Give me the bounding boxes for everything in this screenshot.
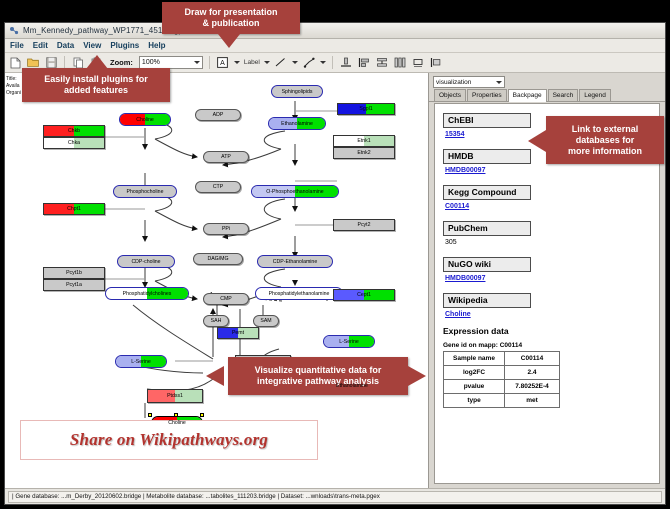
backpage-header-nugo-wiki: NuGO wiki — [443, 257, 531, 272]
node-label: L-Serine — [339, 339, 359, 345]
node-label: L-Serine — [131, 359, 151, 365]
gene-node-sgpl1[interactable]: Sgpl1 — [337, 103, 395, 115]
backpage-header-pubchem: PubChem — [443, 221, 531, 236]
tab-backpage[interactable]: Backpage — [508, 89, 547, 102]
node-label: CTP — [213, 184, 223, 190]
backpage-link-wikipedia[interactable]: Choline — [445, 311, 654, 318]
cell-value: 7.80252E-4 — [505, 380, 560, 394]
gene-node-etnk1[interactable]: Etnk1 — [333, 135, 395, 147]
chevron-down-icon[interactable] — [292, 61, 298, 64]
gene-node-pcyt2[interactable]: Pcyt2 — [333, 219, 395, 231]
node-label: CMP — [220, 296, 232, 302]
cell-key: log2FC — [444, 366, 505, 380]
cofactor-node-atp[interactable]: ATP — [203, 151, 249, 163]
backpage-header-hmdb: HMDB — [443, 149, 531, 164]
node-label: SAM — [260, 318, 271, 324]
metabolite-node-cdp-choline[interactable]: CDP-choline — [117, 255, 175, 268]
callout-plugins: Easily install plugins for added feature… — [22, 68, 170, 102]
gene-node-chkb[interactable]: Chkb — [43, 125, 105, 137]
label-tool-label: Label — [244, 59, 260, 66]
metabolite-node-ethanolamine[interactable]: Ethanolamine — [268, 117, 326, 130]
callout-links-arrow-stem — [544, 135, 550, 146]
align-bottom-icon[interactable] — [339, 56, 353, 70]
node-label: Cept1 — [357, 292, 371, 298]
svg-text:A: A — [221, 60, 226, 67]
node-label: Chka — [68, 140, 80, 146]
new-file-icon[interactable] — [8, 56, 22, 70]
metabolite-node-l-serine-left[interactable]: L-Serine — [115, 355, 167, 368]
node-label: Ptdss1 — [167, 393, 183, 399]
table-row: log2FC 2.4 — [444, 366, 560, 380]
cofactor-node-ctp[interactable]: CTP — [195, 181, 241, 193]
toolbar-separator — [209, 56, 210, 69]
cofactor-node-adp[interactable]: ADP — [195, 109, 241, 121]
toolbar-separator — [332, 56, 333, 69]
tab-objects[interactable]: Objects — [434, 89, 466, 101]
callout-visualize: Visualize quantitative data for integrat… — [228, 357, 408, 395]
backpage-link-hmdb[interactable]: HMDB00097 — [445, 167, 654, 174]
title-bar: Mm_Kennedy_pathway_WP1771_45176.gpml — [5, 23, 665, 39]
chevron-down-icon[interactable] — [234, 61, 240, 64]
cell-key: Sample name — [444, 352, 505, 366]
screenshot-root: Mm_Kennedy_pathway_WP1771_45176.gpml Fil… — [0, 0, 670, 509]
gene-node-chka[interactable]: Chka — [43, 137, 105, 149]
backpage-link-kegg-compound[interactable]: C00114 — [445, 203, 654, 210]
align-left-icon[interactable] — [357, 56, 371, 70]
chevron-down-icon — [496, 81, 502, 84]
side-panel-tabs: Objects Properties Backpage Search Legen… — [429, 89, 665, 102]
backpage-header-wikipedia: Wikipedia — [443, 293, 531, 308]
gene-node-etnk2[interactable]: Etnk2 — [333, 147, 395, 159]
tab-legend[interactable]: Legend — [579, 89, 611, 101]
node-label: ADP — [213, 112, 224, 118]
gene-node-pcyt1a[interactable]: Pcyt1a — [43, 279, 105, 291]
backpage-link-nugo-wiki[interactable]: HMDB00097 — [445, 275, 654, 282]
metabolite-node-l-serine-right[interactable]: L-Serine — [323, 335, 375, 348]
metabolite-node-choline-top[interactable]: Choline — [119, 113, 171, 126]
callout-links-line2: databases for — [576, 135, 635, 146]
cofactor-node-dag-mg[interactable]: DAG/MG — [193, 253, 243, 265]
cell-key: pvalue — [444, 380, 505, 394]
node-label: PPi — [222, 226, 230, 232]
tab-properties[interactable]: Properties — [467, 89, 507, 101]
backpage-value-pubchem: 305 — [445, 239, 654, 246]
gene-id-on-mapp: Gene id on mapp: C00114 — [443, 342, 654, 349]
menu-item-view[interactable]: View — [83, 41, 101, 50]
cofactor-node-cmp[interactable]: CMP — [203, 293, 249, 305]
node-label: Etnk1 — [357, 138, 370, 144]
expression-data-title: Expression data — [443, 326, 654, 336]
node-label: DAG/MG — [207, 256, 228, 262]
node-label: Ethanolamine — [281, 121, 313, 127]
node-label: Phosphatidylethanolamine — [269, 291, 330, 297]
callout-draw: Draw for presentation & publication — [162, 2, 300, 34]
visualization-select[interactable]: visualization — [433, 76, 505, 88]
node-label: Ethanolamine — [336, 383, 368, 389]
menu-item-data[interactable]: Data — [57, 41, 74, 50]
node-label: Phosphatidylcholines — [123, 291, 172, 297]
node-label: Choline — [136, 117, 154, 123]
cell-value: met — [505, 394, 560, 408]
cofactor-node-ppi[interactable]: PPi — [203, 223, 249, 235]
callout-links-line3: more information — [568, 146, 642, 157]
callout-visualize-arrow-left-icon — [206, 366, 224, 386]
chevron-down-icon[interactable] — [264, 61, 270, 64]
chevron-down-icon[interactable] — [320, 61, 326, 64]
callout-plugins-line1: Easily install plugins for — [44, 74, 148, 85]
gene-node-cept1[interactable]: Cept1 — [333, 289, 395, 301]
metabolite-node-phosphatidylcholines[interactable]: Phosphatidylcholines — [105, 287, 189, 300]
gene-node-ptdss1[interactable]: Ptdss1 — [147, 389, 203, 403]
order-icon[interactable] — [429, 56, 443, 70]
node-label: Sgpl1 — [359, 106, 372, 112]
node-label: Choline — [168, 420, 186, 426]
visualization-row: visualization — [429, 73, 665, 89]
callout-links: Link to external databases for more info… — [546, 116, 664, 164]
expression-data-table: Sample name C00114 log2FC 2.4 pvalue 7.8… — [443, 351, 560, 408]
menu-bar[interactable]: File Edit Data View Plugins Help — [5, 39, 665, 53]
gene-node-pcyt1b[interactable]: Pcyt1b — [43, 267, 105, 279]
node-label: Pcyt1b — [66, 270, 82, 276]
menu-item-edit[interactable]: Edit — [33, 41, 48, 50]
visualization-value: visualization — [436, 79, 471, 86]
node-label: SAH — [211, 318, 222, 324]
stack-icon[interactable] — [375, 56, 389, 70]
status-bar: | Gene database: ...m_Derby_20120602.bri… — [5, 488, 665, 504]
share-wikipathways-text: Share on Wikipathways.org — [70, 430, 268, 450]
table-row: Sample name C00114 — [444, 352, 560, 366]
menu-item-file[interactable]: File — [10, 41, 24, 50]
zoom-label: Zoom: — [110, 58, 133, 67]
metabolite-node-phosphocholine[interactable]: Phosphocholine — [113, 185, 177, 198]
distribute-icon[interactable] — [393, 56, 407, 70]
node-label: CDP-Ethanolamine — [273, 259, 317, 265]
text-label-icon[interactable]: A — [216, 56, 230, 70]
callout-share-wikipathways: Share on Wikipathways.org — [20, 420, 318, 460]
gene-node-pemt[interactable]: Pemt — [217, 327, 259, 339]
node-label: Chkb — [68, 128, 80, 134]
chevron-down-icon — [194, 61, 200, 64]
interaction-tool-icon[interactable] — [302, 56, 316, 70]
zoom-value: 100% — [142, 59, 160, 66]
cofactor-node-sah[interactable]: SAH — [203, 315, 229, 327]
node-label: CDP-choline — [131, 259, 160, 265]
gene-node-chpt1[interactable]: Chpt1 — [43, 203, 105, 215]
node-label: O-Phosphoethanolamine — [266, 189, 323, 195]
node-label: Phosphocholine — [127, 189, 164, 195]
callout-visualize-line1: Visualize quantitative data for — [255, 365, 382, 376]
node-label: Etnk2 — [357, 150, 370, 156]
metabolite-node-sphingolipids[interactable]: Sphingolipids — [271, 85, 323, 98]
table-row: type met — [444, 394, 560, 408]
metabolite-node-phosphatidylethanolamine[interactable]: Phosphatidylethanolamine — [255, 287, 343, 300]
status-bar-text: | Gene database: ...m_Derby_20120602.bri… — [12, 493, 380, 500]
callout-visualize-arrow-right-icon — [408, 366, 426, 386]
line-tool-icon[interactable] — [274, 56, 288, 70]
table-row: pvalue 7.80252E-4 — [444, 380, 560, 394]
cell-value: 2.4 — [505, 366, 560, 380]
callout-plugins-line2: added features — [64, 85, 128, 96]
node-label: Chpt1 — [67, 206, 81, 212]
tab-search[interactable]: Search — [548, 89, 579, 101]
backpage-header-chebi: ChEBI — [443, 113, 531, 128]
cell-value: C00114 — [505, 352, 560, 366]
callout-draw-arrow-icon — [218, 34, 240, 48]
size-icon[interactable] — [411, 56, 425, 70]
callout-links-line1: Link to external — [572, 124, 639, 135]
node-label: Pcyt2 — [358, 222, 371, 228]
menu-item-plugins[interactable]: Plugins — [110, 41, 139, 50]
metabolite-node-cdp-ethanolamine[interactable]: CDP-Ethanolamine — [257, 255, 333, 268]
node-label: Pcyt1a — [66, 282, 82, 288]
callout-draw-line2: & publication — [203, 18, 260, 29]
callout-plugins-arrow-stem — [92, 66, 102, 72]
node-label: ATP — [221, 154, 231, 160]
menu-item-help[interactable]: Help — [148, 41, 165, 50]
node-label: Sphingolipids — [282, 89, 313, 95]
status-bar-field: | Gene database: ...m_Derby_20120602.bri… — [8, 491, 662, 503]
pathvisio-icon — [9, 26, 19, 36]
backpage-header-kegg-compound: Kegg Compound — [443, 185, 531, 200]
cofactor-node-sam[interactable]: SAM — [253, 315, 279, 327]
callout-draw-line1: Draw for presentation — [184, 7, 277, 18]
cell-key: type — [444, 394, 505, 408]
metabolite-node-o-phosphoethanolamine[interactable]: O-Phosphoethanolamine — [251, 185, 339, 198]
node-label: Pemt — [232, 330, 244, 336]
